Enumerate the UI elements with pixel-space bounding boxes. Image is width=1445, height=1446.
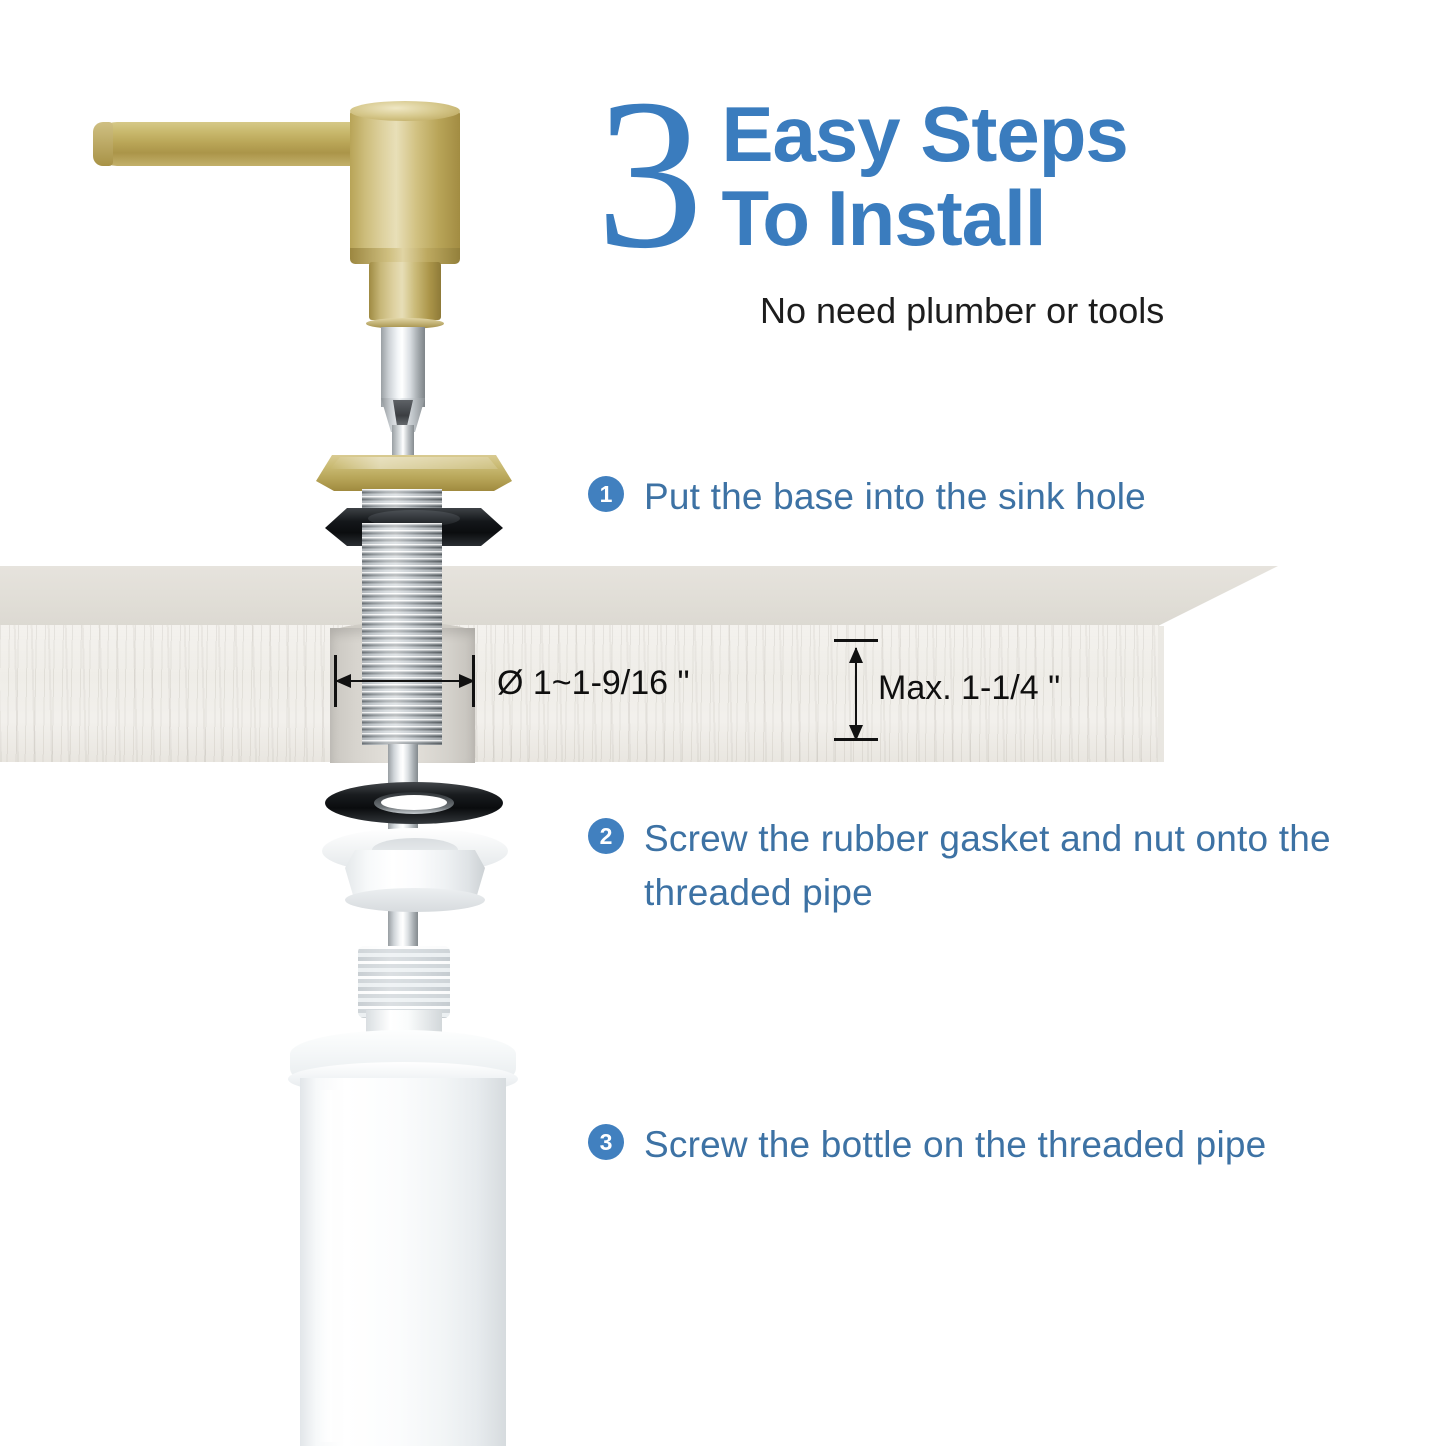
bottle-highlight [318,1090,344,1442]
thickness-dim-tick-top [834,639,878,642]
install-step-2: 2 Screw the rubber gasket and nut onto t… [588,812,1348,919]
soap-pump-body [350,110,460,255]
hole-dim-arrow [336,680,474,682]
headline-line-2-to: To [722,174,810,262]
brass-flange-highlight [330,457,498,469]
headline-line-1: Easy Steps [722,96,1128,172]
step-2-text: Screw the rubber gasket and nut onto the… [644,812,1348,919]
plastic-nut-bottom [345,888,485,912]
threaded-pipe [362,523,442,745]
step-3-badge: 3 [588,1124,624,1160]
step-1-text: Put the base into the sink hole [644,470,1146,524]
soap-pump-spout [95,122,385,166]
headline-subtitle: No need plumber or tools [760,290,1164,332]
rubber-washer-bore-inner [381,795,447,810]
illustration-canvas: Ø 1~1-9/16 " Max. 1-1/4 " 3 Easy Steps T… [0,0,1445,1445]
counter-thickness-label: Max. 1-1/4 " [878,669,1060,708]
install-step-1: 1 Put the base into the sink hole [588,470,1146,524]
headline-block: 3 Easy Steps ToInstall [596,92,1236,262]
hole-diameter-label: Ø 1~1-9/16 " [497,664,690,703]
headline-line-2: ToInstall [722,180,1128,256]
headline-line-2-install: Install [827,174,1045,262]
soap-pump-top-cap [350,101,460,121]
headline-number: 3 [596,86,698,262]
countertop-top-face [0,566,1278,626]
step-2-badge: 2 [588,818,624,854]
soap-pump-collar [369,262,441,320]
chrome-stem [381,327,425,407]
install-step-3: 3 Screw the bottle on the threaded pipe [588,1118,1266,1172]
bottle-neck-threads [358,946,450,1018]
step-1-badge: 1 [588,476,624,512]
thickness-dim-arrow [855,648,857,740]
soap-pump-spout-tip [93,122,113,166]
step-3-text: Screw the bottle on the threaded pipe [644,1118,1266,1172]
